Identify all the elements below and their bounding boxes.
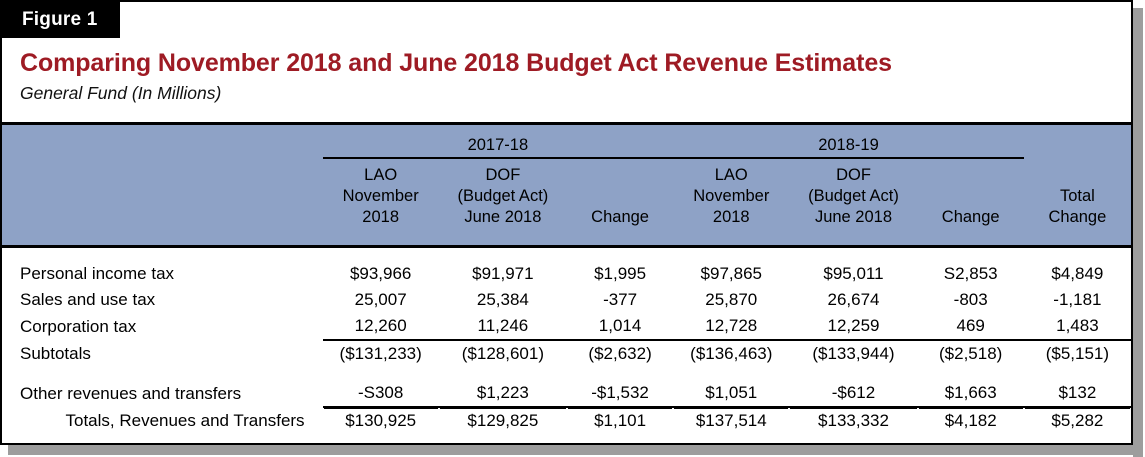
group-header-trailing-blank (1024, 124, 1131, 159)
table-row: Subtotals ($131,233) ($128,601) ($2,632)… (2, 340, 1131, 367)
cell-other-revenues-dof-2018: -$612 (789, 380, 917, 407)
figure-drop-shadow-right (1133, 8, 1143, 457)
cell-other-revenues-change-2018: $1,663 (918, 380, 1024, 407)
cell-corporation-tax-total-change: 1,483 (1024, 313, 1131, 340)
column-header-lao-2017-line3: 2018 (362, 208, 399, 226)
revenue-comparison-table: 2017-18 2018-19 LAO November 2018 DOF (B… (2, 122, 1131, 454)
group-header-blank (2, 124, 323, 159)
column-header-lao-2018-line3: 2018 (713, 208, 750, 226)
band-bottom-cell-4 (567, 236, 673, 247)
column-header-lao-2017-line2: November (343, 187, 419, 205)
table-row: Corporation tax 12,260 11,246 1,014 12,7… (2, 313, 1131, 340)
column-header-dof-2018-line2: (Budget Act) (808, 187, 899, 205)
column-header-dof-2018-line1: DOF (836, 166, 871, 184)
cell-sales-and-use-tax-change-2017: -377 (567, 287, 673, 313)
table-bottom-spacer-cell (2, 434, 1131, 454)
row-label-corporation-tax: Corporation tax (2, 313, 323, 340)
column-header-total-change: Total Change (1024, 158, 1131, 236)
cell-corporation-tax-dof-2017: 11,246 (439, 313, 567, 340)
cell-sales-and-use-tax-lao-2017: 25,007 (323, 287, 439, 313)
cell-personal-income-tax-dof-2017: $91,971 (439, 261, 567, 287)
cell-corporation-tax-change-2017: 1,014 (567, 313, 673, 340)
band-bottom-cell-6 (789, 236, 917, 247)
column-header-lao-2017-line1: LAO (364, 166, 397, 184)
column-header-lao-2017: LAO November 2018 (323, 158, 439, 236)
cell-subtotals-lao-2017: ($131,233) (323, 340, 439, 367)
column-header-row: LAO November 2018 DOF (Budget Act) June … (2, 158, 1131, 236)
figure-title-block: Comparing November 2018 and June 2018 Bu… (20, 48, 1125, 105)
column-header-lao-2018-line2: November (693, 187, 769, 205)
band-bottom-cell-1 (2, 236, 323, 247)
cell-totals-dof-2018: $133,332 (789, 407, 917, 434)
column-header-total-change-line1: Total (1060, 187, 1095, 205)
figure-number-tag: Figure 1 (2, 2, 120, 38)
group-header-2017-18: 2017-18 (323, 124, 674, 159)
column-header-band-bottom (2, 236, 1131, 247)
cell-sales-and-use-tax-dof-2017: 25,384 (439, 287, 567, 313)
cell-totals-dof-2017: $129,825 (439, 407, 567, 434)
row-label-subtotals: Subtotals (2, 340, 323, 367)
cell-subtotals-dof-2018: ($133,944) (789, 340, 917, 367)
cell-sales-and-use-tax-total-change: -1,181 (1024, 287, 1131, 313)
cell-other-revenues-lao-2018: $1,051 (673, 380, 789, 407)
row-label-totals-revenues-and-transfers: Totals, Revenues and Transfers (2, 407, 323, 434)
cell-totals-change-2017: $1,101 (567, 407, 673, 434)
figure-title: Comparing November 2018 and June 2018 Bu… (20, 48, 1125, 78)
cell-corporation-tax-lao-2018: 12,728 (673, 313, 789, 340)
cell-personal-income-tax-lao-2018: $97,865 (673, 261, 789, 287)
column-header-lao-2018: LAO November 2018 (673, 158, 789, 236)
table-row: Personal income tax $93,966 $91,971 $1,9… (2, 261, 1131, 287)
cell-personal-income-tax-lao-2017: $93,966 (323, 261, 439, 287)
cell-subtotals-dof-2017: ($128,601) (439, 340, 567, 367)
group-header-row: 2017-18 2018-19 (2, 124, 1131, 159)
column-header-lao-2018-line1: LAO (715, 166, 748, 184)
cell-personal-income-tax-total-change: $4,849 (1024, 261, 1131, 287)
column-header-total-change-line2: Change (1048, 208, 1106, 226)
group-header-2018-19: 2018-19 (673, 124, 1024, 159)
cell-sales-and-use-tax-dof-2018: 26,674 (789, 287, 917, 313)
column-header-dof-2017-line3: June 2018 (464, 208, 541, 226)
column-header-rowlabel-blank (2, 158, 323, 236)
cell-sales-and-use-tax-lao-2018: 25,870 (673, 287, 789, 313)
cell-subtotals-lao-2018: ($136,463) (673, 340, 789, 367)
cell-subtotals-change-2017: ($2,632) (567, 340, 673, 367)
cell-other-revenues-lao-2017: -S308 (323, 380, 439, 407)
cell-other-revenues-change-2017: -$1,532 (567, 380, 673, 407)
cell-corporation-tax-dof-2018: 12,259 (789, 313, 917, 340)
table-mid-spacer-cell (2, 367, 1131, 380)
cell-totals-total-change: $5,282 (1024, 407, 1131, 434)
cell-other-revenues-total-change: $132 (1024, 380, 1131, 407)
band-bottom-cell-3 (439, 236, 567, 247)
band-bottom-cell-5 (673, 236, 789, 247)
band-bottom-cell-2 (323, 236, 439, 247)
row-label-other-revenues-and-transfers: Other revenues and transfers (2, 380, 323, 407)
column-header-dof-2017-line2: (Budget Act) (457, 187, 548, 205)
cell-totals-lao-2018: $137,514 (673, 407, 789, 434)
band-bottom-cell-8 (1024, 236, 1131, 247)
cell-personal-income-tax-change-2017: $1,995 (567, 261, 673, 287)
column-header-dof-2017: DOF (Budget Act) June 2018 (439, 158, 567, 236)
cell-totals-lao-2017: $130,925 (323, 407, 439, 434)
cell-corporation-tax-lao-2017: 12,260 (323, 313, 439, 340)
table-mid-spacer (2, 367, 1131, 380)
row-label-sales-and-use-tax: Sales and use tax (2, 287, 323, 313)
cell-corporation-tax-change-2018: 469 (918, 313, 1024, 340)
figure-subtitle: General Fund (In Millions) (20, 81, 1125, 105)
column-header-dof-2017-line1: DOF (485, 166, 520, 184)
cell-other-revenues-dof-2017: $1,223 (439, 380, 567, 407)
table-row: Totals, Revenues and Transfers $130,925 … (2, 407, 1131, 434)
cell-personal-income-tax-change-2018: S2,853 (918, 261, 1024, 287)
column-header-dof-2018: DOF (Budget Act) June 2018 (789, 158, 917, 236)
table-row: Other revenues and transfers -S308 $1,22… (2, 380, 1131, 407)
row-label-personal-income-tax: Personal income tax (2, 261, 323, 287)
cell-totals-change-2018: $4,182 (918, 407, 1024, 434)
column-header-dof-2018-line3: June 2018 (815, 208, 892, 226)
table-row: Sales and use tax 25,007 25,384 -377 25,… (2, 287, 1131, 313)
table-body-top-spacer (2, 247, 1131, 262)
cell-subtotals-total-change: ($5,151) (1024, 340, 1131, 367)
cell-subtotals-change-2018: ($2,518) (918, 340, 1024, 367)
figure-root: Figure 1 Comparing November 2018 and Jun… (0, 0, 1145, 457)
cell-personal-income-tax-dof-2018: $95,011 (789, 261, 917, 287)
band-bottom-cell-7 (918, 236, 1024, 247)
column-header-change-2017: Change (567, 158, 673, 236)
table-bottom-spacer (2, 434, 1131, 454)
cell-sales-and-use-tax-change-2018: -803 (918, 287, 1024, 313)
table-body-top-spacer-cell (2, 247, 1131, 262)
column-header-change-2018: Change (918, 158, 1024, 236)
